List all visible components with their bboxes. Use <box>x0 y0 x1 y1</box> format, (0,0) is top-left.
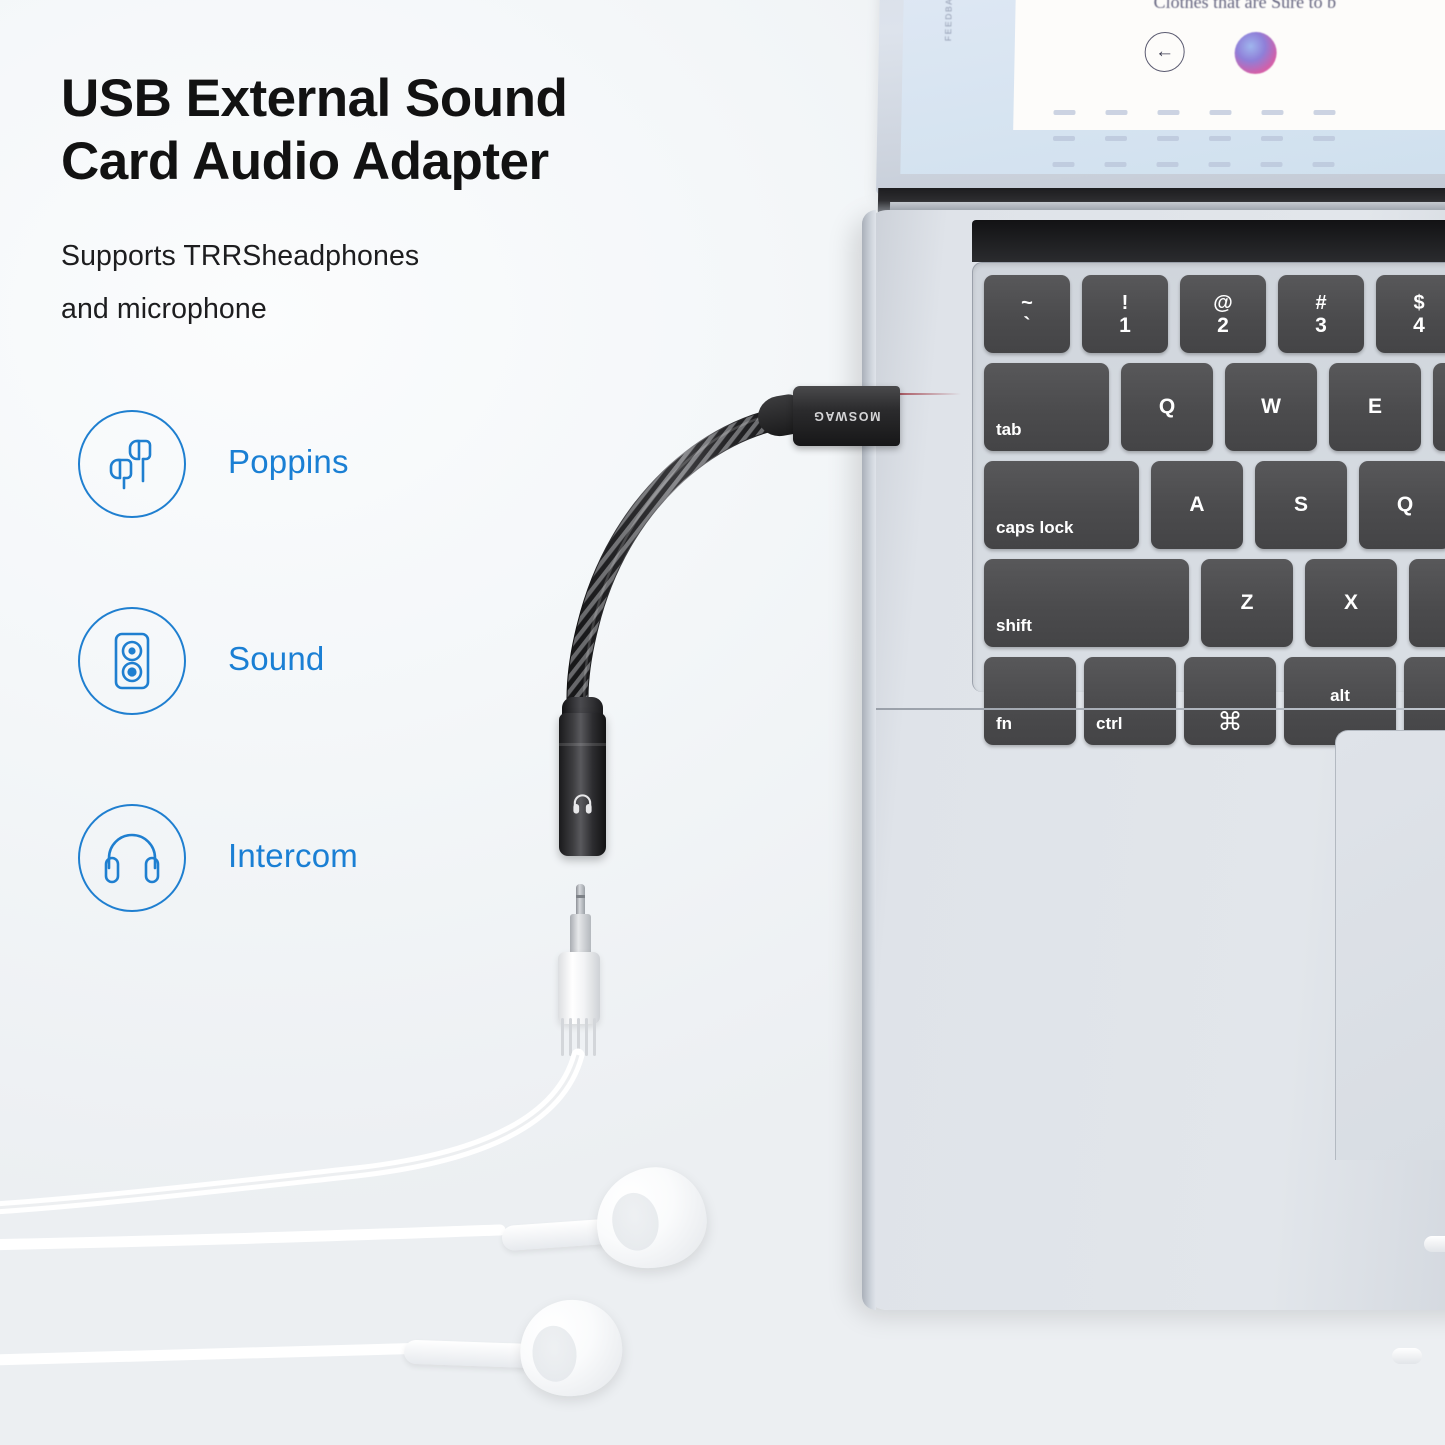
feature-list: Poppins Sound <box>78 410 558 1001</box>
keyboard-top-recess <box>972 220 1445 262</box>
palmrest-seam <box>876 708 1445 710</box>
headphones-icon <box>78 804 186 912</box>
key-3[interactable]: #3 <box>1278 275 1364 353</box>
key-2[interactable]: @2 <box>1180 275 1266 353</box>
earphone-plug-tip <box>576 884 585 917</box>
feature-item-poppins: Poppins <box>78 410 558 607</box>
subtitle: Supports TRRSheadphones and microphone <box>61 230 701 335</box>
connector-accent-line <box>895 393 961 395</box>
cable-joint-upper <box>1424 1236 1445 1252</box>
usb-c-connector: MOSWAG <box>793 386 900 446</box>
earbuds-icon <box>78 410 186 518</box>
key-tab[interactable]: tab <box>984 363 1109 451</box>
key-caps-lock[interactable]: caps lock <box>984 461 1139 549</box>
headline-line-2: Card Audio Adapter <box>61 131 761 194</box>
key-w[interactable]: W <box>1225 363 1317 451</box>
key-d[interactable]: Q <box>1359 461 1445 549</box>
key-ctrl[interactable]: ctrl <box>1084 657 1176 745</box>
screen-product-grid <box>1051 110 1383 174</box>
feature-label-sound: Sound <box>228 640 324 678</box>
earphone-plug-barrel <box>558 952 600 1024</box>
key-c[interactable]: C <box>1409 559 1445 647</box>
subtitle-line-2: and microphone <box>61 283 701 336</box>
trackpad[interactable] <box>1335 730 1445 1160</box>
brand-label: MOSWAG <box>793 386 900 446</box>
laptop-hinge-highlight <box>890 202 1445 210</box>
key-1[interactable]: !1 <box>1082 275 1168 353</box>
laptop-screen: FEEDBACK POLICY ORDERS feel pre Clothes … <box>900 0 1445 174</box>
screen-sidebar-labels: FEEDBACK POLICY ORDERS <box>937 0 962 41</box>
feature-label-intercom: Intercom <box>228 837 358 875</box>
key-shift[interactable]: shift <box>984 559 1189 647</box>
key-r[interactable] <box>1433 363 1445 451</box>
laptop-lid: FEEDBACK POLICY ORDERS feel pre Clothes … <box>876 0 1445 195</box>
headline-line-1: USB External Sound <box>61 68 761 131</box>
key-tilde[interactable]: ~` <box>984 275 1070 353</box>
key-fn[interactable]: fn <box>984 657 1076 745</box>
jack-seam <box>559 743 606 746</box>
key-z[interactable]: Z <box>1201 559 1293 647</box>
laptop: FEEDBACK POLICY ORDERS feel pre Clothes … <box>862 0 1445 1390</box>
product-marketing-image: USB External Sound Card Audio Adapter Su… <box>0 0 1445 1445</box>
key-q[interactable]: Q <box>1121 363 1213 451</box>
feature-item-intercom: Intercom <box>78 804 558 1001</box>
page-title: USB External Sound Card Audio Adapter <box>61 68 761 193</box>
audio-jack-housing <box>559 713 606 856</box>
screen-subtitle: Clothes that are Sure to b <box>1153 0 1445 13</box>
headphone-port-icon <box>571 790 594 818</box>
key-e[interactable]: E <box>1329 363 1421 451</box>
key-4[interactable]: $4 <box>1376 275 1445 353</box>
key-s[interactable]: S <box>1255 461 1347 549</box>
speaker-icon <box>78 607 186 715</box>
subtitle-line-1: Supports TRRSheadphones <box>61 230 701 283</box>
key-x[interactable]: X <box>1305 559 1397 647</box>
key-command[interactable]: ⌘ <box>1184 657 1276 745</box>
feature-label-poppins: Poppins <box>228 443 349 481</box>
key-a[interactable]: A <box>1151 461 1243 549</box>
cable-joint-lower <box>1392 1348 1422 1364</box>
usb-audio-adapter: MOSWAG <box>540 375 920 875</box>
feature-item-sound: Sound <box>78 607 558 804</box>
